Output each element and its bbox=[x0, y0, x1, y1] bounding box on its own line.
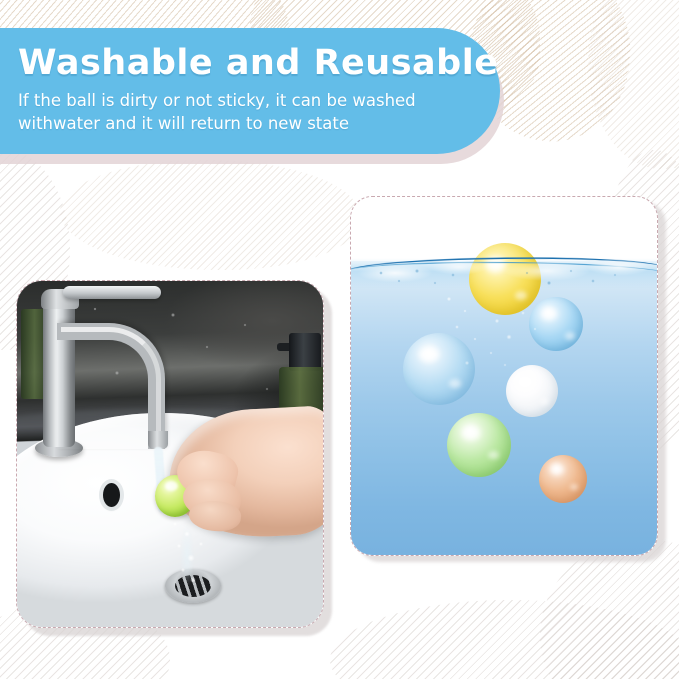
banner-title: Washable and Reusable bbox=[18, 40, 500, 86]
background-hatch-band bbox=[60, 160, 360, 270]
ball-green bbox=[447, 413, 511, 477]
header-banner: Washable and Reusable If the ball is dir… bbox=[0, 28, 500, 154]
faucet-handle bbox=[63, 286, 161, 299]
background-hatch-bottom-edge bbox=[330, 600, 679, 679]
sink-overflow-hole bbox=[103, 483, 120, 507]
faucet-spout-highlight bbox=[61, 327, 161, 445]
waterline-bubble-band bbox=[357, 263, 653, 293]
ball-orange bbox=[539, 455, 587, 503]
background-hatch-top-right-2 bbox=[588, 0, 679, 169]
infographic-page: Washable and Reusable If the ball is dir… bbox=[0, 0, 679, 679]
left-photo-panel bbox=[16, 280, 324, 628]
right-illustration-panel bbox=[350, 196, 658, 556]
soap-bottle-cap bbox=[289, 333, 321, 371]
banner-subtitle: If the ball is dirty or not sticky, it c… bbox=[18, 89, 470, 135]
green-sticky-ball-highlight bbox=[165, 481, 178, 491]
